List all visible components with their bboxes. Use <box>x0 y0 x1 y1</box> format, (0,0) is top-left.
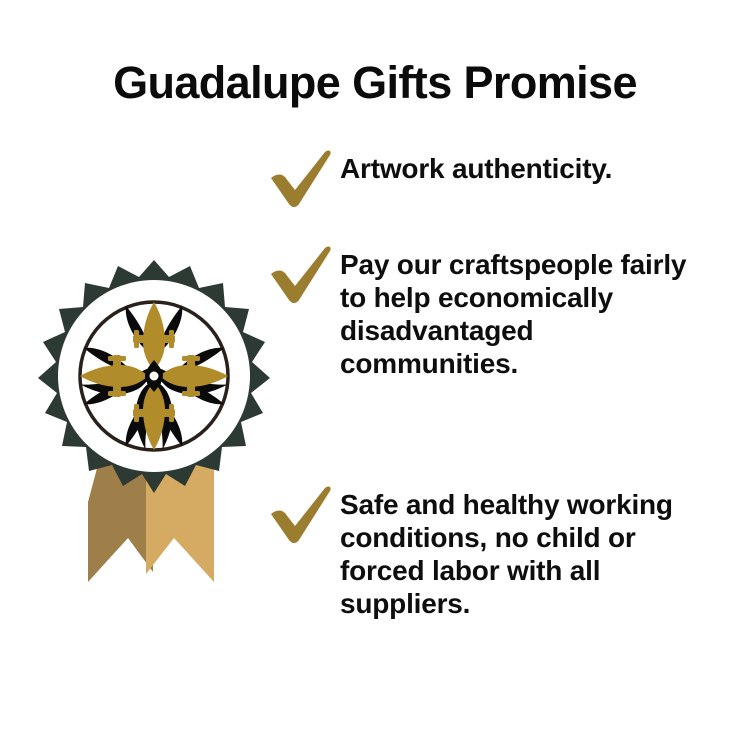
promise-text: Safe and healthy working conditions, no … <box>340 484 692 620</box>
list-item: Safe and healthy working conditions, no … <box>268 484 692 620</box>
page-title: Guadalupe Gifts Promise <box>0 58 750 108</box>
list-item: Pay our craftspeople fairly to help econ… <box>268 244 692 380</box>
check-icon <box>268 486 340 546</box>
list-item: Artwork authenticity. <box>268 148 612 210</box>
promise-text: Pay our craftspeople fairly to help econ… <box>340 244 692 380</box>
promise-card: Guadalupe Gifts Promise <box>0 0 750 750</box>
award-rosette-badge <box>38 252 270 582</box>
check-icon <box>268 246 340 306</box>
promise-text: Artwork authenticity. <box>340 148 612 185</box>
check-icon <box>268 150 340 210</box>
